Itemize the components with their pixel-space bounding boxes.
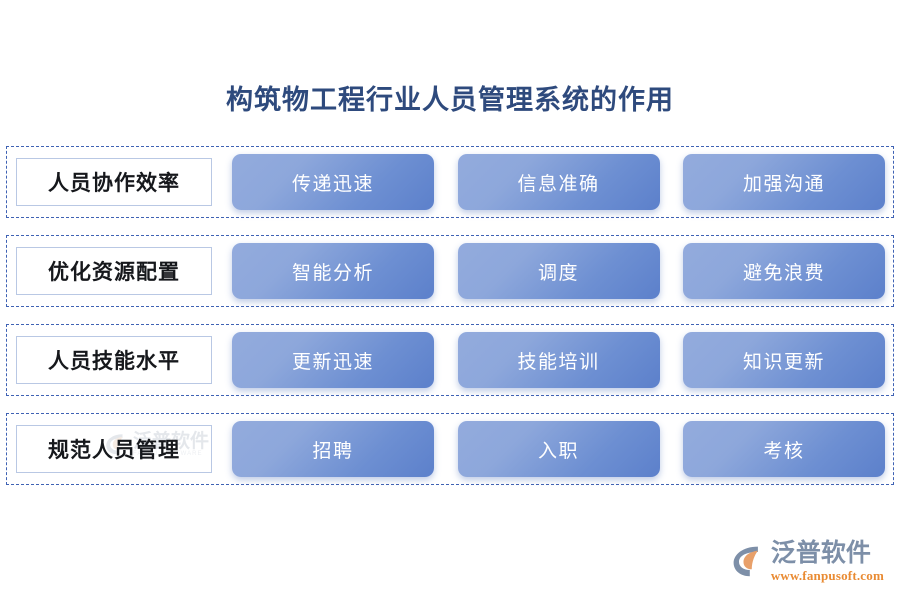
item-card[interactable]: 避免浪费 [683, 243, 885, 299]
brand-texts: 泛普软件 www.fanpusoft.com [771, 541, 884, 584]
row-group: 人员协作效率 传递迅速 信息准确 加强沟通 [6, 146, 894, 218]
item-card[interactable]: 传递迅速 [232, 154, 434, 210]
item-card[interactable]: 加强沟通 [683, 154, 885, 210]
items-container: 传递迅速 信息准确 加强沟通 [232, 147, 885, 217]
brand-url[interactable]: www.fanpusoft.com [771, 568, 884, 584]
item-card[interactable]: 招聘 [232, 421, 434, 477]
item-card[interactable]: 调度 [458, 243, 660, 299]
brand-name: 泛普软件 [771, 541, 884, 567]
row-group: 泛普软件 FANPU SOFTWARE 规范人员管理 招聘 入职 考核 [6, 413, 894, 485]
item-label: 智能分析 [292, 258, 374, 285]
item-label: 信息准确 [517, 169, 599, 196]
row-group: 人员技能水平 更新迅速 技能培训 知识更新 [6, 324, 894, 396]
category-box[interactable]: 人员协作效率 [16, 158, 212, 206]
item-label: 技能培训 [517, 347, 599, 374]
page-title: 构筑物工程行业人员管理系统的作用 [0, 78, 900, 117]
category-box[interactable]: 人员技能水平 [16, 336, 212, 384]
item-label: 考核 [763, 436, 804, 463]
item-card[interactable]: 知识更新 [683, 332, 885, 388]
items-container: 智能分析 调度 避免浪费 [232, 236, 885, 306]
fanpu-logo-icon [730, 543, 766, 579]
category-label: 人员技能水平 [48, 345, 180, 375]
item-card[interactable]: 更新迅速 [232, 332, 434, 388]
category-box[interactable]: 优化资源配置 [16, 247, 212, 295]
items-container: 更新迅速 技能培训 知识更新 [232, 325, 885, 395]
item-label: 更新迅速 [292, 347, 374, 374]
item-card[interactable]: 考核 [683, 421, 885, 477]
item-label: 知识更新 [743, 347, 825, 374]
row-group: 优化资源配置 智能分析 调度 避免浪费 [6, 235, 894, 307]
item-card[interactable]: 入职 [458, 421, 660, 477]
item-card[interactable]: 智能分析 [232, 243, 434, 299]
item-label: 避免浪费 [743, 258, 825, 285]
item-label: 调度 [538, 258, 579, 285]
infographic-page: 构筑物工程行业人员管理系统的作用 人员协作效率 传递迅速 信息准确 加强沟通 [0, 0, 900, 600]
item-card[interactable]: 信息准确 [458, 154, 660, 210]
item-card[interactable]: 技能培训 [458, 332, 660, 388]
category-label: 人员协作效率 [48, 167, 180, 197]
category-box[interactable]: 规范人员管理 [16, 425, 212, 473]
item-label: 入职 [538, 436, 579, 463]
item-label: 招聘 [312, 436, 353, 463]
category-label: 规范人员管理 [48, 434, 180, 464]
items-container: 招聘 入职 考核 [232, 414, 885, 484]
category-label: 优化资源配置 [48, 256, 180, 286]
brand-logo[interactable]: 泛普软件 www.fanpusoft.com [730, 541, 884, 584]
item-label: 加强沟通 [743, 169, 825, 196]
rows-container: 人员协作效率 传递迅速 信息准确 加强沟通 优化资源配置 智能 [6, 146, 894, 485]
item-label: 传递迅速 [292, 169, 374, 196]
